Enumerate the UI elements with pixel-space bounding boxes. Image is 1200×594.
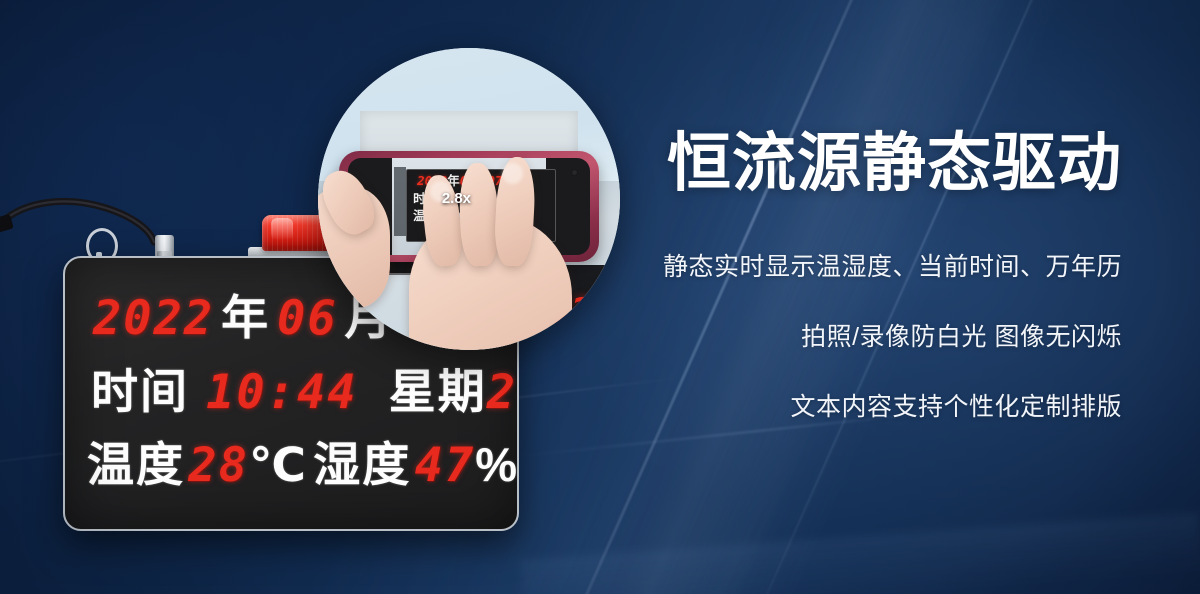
led-weekday-label: 星期 xyxy=(389,370,487,417)
led-temp-value: 28 xyxy=(188,442,249,489)
led-humidity-label: 湿度 xyxy=(313,443,411,490)
led-humidity-unit: % xyxy=(475,441,517,488)
led-temp-unit: ℃ xyxy=(249,441,306,488)
product-banner: 2022 年 06 月 07 日 时间 10:44 星期 2 xyxy=(0,0,1200,594)
led-time-value: 10:44 xyxy=(206,369,357,416)
feature-line-2: 拍照/录像防白光 图像无闪烁 xyxy=(562,325,1122,350)
page-title: 恒流源静态驱动 xyxy=(562,130,1122,197)
led-time-label: 时间 xyxy=(91,370,189,417)
led-year-label: 年 xyxy=(221,296,270,343)
feature-line-1: 静态实时显示温湿度、当前时间、万年历 xyxy=(562,255,1122,280)
led-weekday-value: 2 xyxy=(487,369,517,416)
marketing-copy: 恒流源静态驱动 静态实时显示温湿度、当前时间、万年历 拍照/录像防白光 图像无闪… xyxy=(562,130,1122,420)
led-year-value: 2022 xyxy=(93,295,214,342)
viewfinder-bar xyxy=(394,167,406,235)
zoom-level-badge: 2.8x xyxy=(442,190,471,207)
led-humidity-value: 47 xyxy=(415,442,476,489)
led-row-environment: 温度 28 ℃ 湿度 47 % xyxy=(65,441,517,490)
power-cable-icon xyxy=(0,192,164,252)
feature-line-3: 文本内容支持个性化定制排版 xyxy=(562,395,1122,420)
led-row-time: 时间 10:44 星期 2 xyxy=(65,369,517,417)
led-temp-label: 温度 xyxy=(87,443,185,490)
